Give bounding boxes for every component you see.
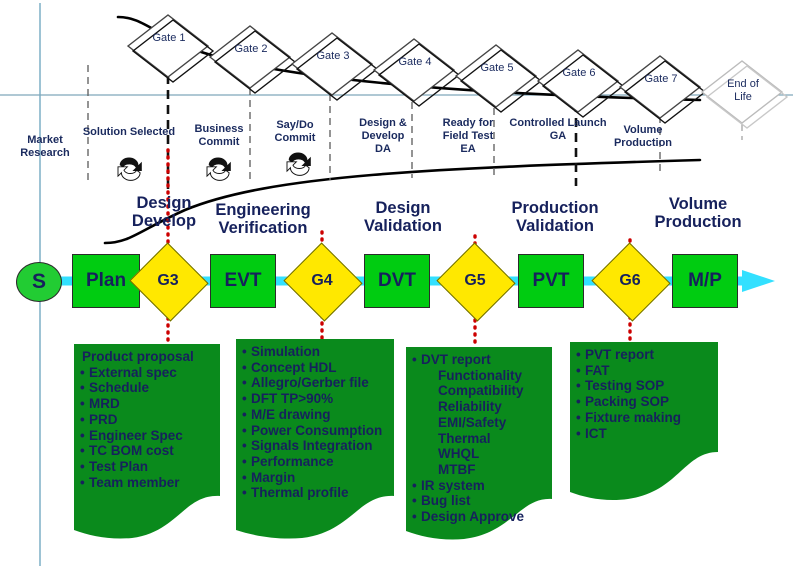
bullet-icon: • (576, 363, 585, 379)
deliverable-item-label: Thermal (438, 431, 491, 446)
deliverable-item: •Allegro/Gerber file (242, 375, 390, 391)
bullet-icon: • (412, 352, 421, 368)
phase-line-1: Say/Do (262, 119, 328, 132)
deliverable-item: Reliability (412, 399, 548, 415)
gate-node-label: G3 (140, 255, 196, 307)
deliverable-item: Functionality (412, 368, 548, 384)
phase-line-2: Field Test (428, 130, 508, 143)
deliverable-item-label: ICT (585, 426, 607, 441)
end-of-life-label: End of Life (708, 78, 778, 103)
process-box-dvt[interactable]: DVT (364, 254, 430, 308)
bullet-icon: • (242, 391, 251, 407)
process-box-evt[interactable]: EVT (210, 254, 276, 308)
deliverable-item-label: Testing SOP (585, 378, 664, 393)
deliverable-list: •DVT reportFunctionalityCompatibilityRel… (406, 347, 552, 525)
deliverable-item-label: EMI/Safety (438, 415, 506, 430)
phase-label-solution-selected: Solution Selected (78, 126, 180, 139)
process-box-pvt[interactable]: PVT (518, 254, 584, 308)
phase-line-2: Commit (262, 132, 328, 145)
stage-title-line-2: Validation (496, 218, 614, 236)
deliverable-item-label: MRD (89, 396, 120, 411)
deliverable-item: •Concept HDL (242, 360, 390, 376)
gate-node-label: G6 (602, 255, 658, 307)
rework-cycle-icon-3 (287, 152, 311, 175)
phase-line-2: Production (602, 137, 684, 150)
bullet-icon: • (242, 485, 251, 501)
deliverable-item: •FAT (576, 363, 714, 379)
deliverable-item: •Thermal profile (242, 485, 390, 501)
deliverable-item: •Power Consumption (242, 423, 390, 439)
deliverable-item-label: Fixture making (585, 410, 681, 425)
gate-node-label: G5 (447, 255, 503, 307)
stage-title-volume-production: Volume Production (640, 196, 756, 232)
deliverable-item: •TC BOM cost (80, 443, 216, 459)
phase-line-3: DA (345, 143, 421, 156)
deliverable-item-label: PVT report (585, 347, 654, 362)
rework-cycle-icon-2 (207, 157, 231, 180)
deliverable-item-label: M/E drawing (251, 407, 331, 422)
gate-node-g3[interactable]: G3 (140, 255, 196, 307)
deliverable-item: •Test Plan (80, 459, 216, 475)
gate-diamond-2 (210, 26, 295, 93)
deliverable-item-label: Engineer Spec (89, 428, 183, 443)
deliverable-item: •Bug list (412, 493, 548, 509)
deliverable-item: •Team member (80, 475, 216, 491)
deliverable-item: •Fixture making (576, 410, 714, 426)
deliverable-item: •Performance (242, 454, 390, 470)
bullet-icon: • (576, 378, 585, 394)
phase-line-1: Controlled Launch (500, 117, 616, 130)
bullet-icon: • (242, 344, 251, 360)
gate-diamond-group (128, 15, 787, 128)
stage-title-line-1: Engineering (198, 202, 328, 220)
deliverable-panel-plan: Product proposal•External spec•Schedule•… (74, 344, 220, 544)
deliverable-item: •PRD (80, 412, 216, 428)
deliverable-item-label: Simulation (251, 344, 320, 359)
deliverable-item-label: Test Plan (89, 459, 148, 474)
deliverable-item: •Signals Integration (242, 438, 390, 454)
deliverable-item: •ICT (576, 426, 714, 442)
phase-label-design-develop-da: Design & Develop DA (345, 117, 421, 157)
bullet-icon: • (412, 493, 421, 509)
deliverable-item-label: Packing SOP (585, 394, 669, 409)
gate-label-3: Gate 3 (305, 50, 361, 62)
gate-label-2: Gate 2 (223, 43, 279, 55)
bullet-icon: • (242, 360, 251, 376)
phase-label-business-commit: Business Commit (182, 123, 256, 149)
rework-cycle-icon-1 (118, 157, 142, 180)
deliverable-item: •IR system (412, 478, 548, 494)
bullet-icon: • (576, 347, 585, 363)
bullet-icon: • (242, 470, 251, 486)
diagram-canvas: Gate 1 Gate 2 Gate 3 Gate 4 Gate 5 Gate … (0, 0, 793, 569)
phase-label-volume-production: Volume Production (602, 124, 684, 150)
phase-line-2: GA (500, 130, 616, 143)
deliverable-item-label: WHQL (438, 446, 479, 461)
gate-label-7: Gate 7 (633, 73, 689, 85)
deliverable-item: •MRD (80, 396, 216, 412)
bullet-icon: • (242, 454, 251, 470)
gate-label-6: Gate 6 (551, 67, 607, 79)
deliverable-item: Compatibility (412, 383, 548, 399)
bullet-icon: • (576, 426, 585, 442)
deliverable-item: •Simulation (242, 344, 390, 360)
gate-node-g4[interactable]: G4 (294, 255, 350, 307)
stage-title-engineering-verification: Engineering Verification (198, 202, 328, 238)
phase-label-say-do-commit: Say/Do Commit (262, 119, 328, 145)
deliverable-item: WHQL (412, 446, 548, 462)
phase-line-1: Business (182, 123, 256, 136)
stage-title-line-2: Production (640, 214, 756, 232)
bullet-icon: • (80, 459, 89, 475)
bullet-icon: • (80, 428, 89, 444)
deliverable-item-label: IR system (421, 478, 485, 493)
deliverable-item-label: Design Approve (421, 509, 524, 524)
bullet-icon: • (80, 380, 89, 396)
gate-diamond-6 (538, 50, 623, 117)
deliverable-item: •DFT TP>90% (242, 391, 390, 407)
deliverable-item: •Engineer Spec (80, 428, 216, 444)
bullet-icon: • (80, 443, 89, 459)
gate-diamond-4 (374, 39, 459, 106)
rework-cycle-icons (118, 152, 311, 180)
bullet-icon: • (242, 407, 251, 423)
deliverable-item: •Margin (242, 470, 390, 486)
deliverable-item-label: TC BOM cost (89, 443, 174, 458)
gate-label-5: Gate 5 (469, 62, 525, 74)
deliverable-panel-pvt: •PVT report•FAT•Testing SOP•Packing SOP•… (570, 342, 718, 507)
gate-node-g6[interactable]: G6 (602, 255, 658, 307)
gate-connector-lines (168, 150, 630, 345)
deliverable-item-label: Compatibility (438, 383, 524, 398)
deliverable-item-label: MTBF (438, 462, 476, 477)
bullet-icon: • (242, 438, 251, 454)
deliverable-item-label: Thermal profile (251, 485, 349, 500)
deliverable-item: Thermal (412, 431, 548, 447)
gate-diamond-7 (620, 56, 705, 123)
deliverable-item-label: Bug list (421, 493, 471, 508)
bullet-icon: • (242, 423, 251, 439)
deliverable-panel-evt: •Simulation•Concept HDL•Allegro/Gerber f… (236, 339, 394, 544)
deliverable-item: MTBF (412, 462, 548, 478)
deliverable-item: •M/E drawing (242, 407, 390, 423)
process-box-mp[interactable]: M/P (672, 254, 738, 308)
gate-label-1: Gate 1 (141, 32, 197, 44)
deliverable-item-label: DFT TP>90% (251, 391, 333, 406)
bullet-icon: • (80, 475, 89, 491)
deliverable-item-label: Signals Integration (251, 438, 373, 453)
deliverable-item: •Packing SOP (576, 394, 714, 410)
deliverable-item-label: Team member (89, 475, 180, 490)
stage-title-production-validation: Production Validation (496, 200, 614, 236)
phase-label-ready-for-field-test-ea: Ready for Field Test EA (428, 117, 508, 157)
gate-label-4: Gate 4 (387, 56, 443, 68)
deliverable-item-label: External spec (89, 365, 177, 380)
deliverable-item-label: Functionality (438, 368, 522, 383)
deliverable-item-label: DVT report (421, 352, 491, 367)
phase-line-2: Develop (345, 130, 421, 143)
end-of-life-line1: End of (708, 78, 778, 91)
deliverable-item-label: Concept HDL (251, 360, 337, 375)
phase-line-1: Volume (602, 124, 684, 137)
stage-title-line-2: Validation (348, 218, 458, 236)
deliverable-item-label: Reliability (438, 399, 502, 414)
bullet-icon: • (576, 394, 585, 410)
phase-line-3: EA (428, 143, 508, 156)
gate-diamond-1 (128, 15, 213, 82)
deliverable-list: Product proposal•External spec•Schedule•… (74, 344, 220, 490)
stage-title-line-1: Volume (640, 196, 756, 214)
phase-line-1: Ready for (428, 117, 508, 130)
deliverable-item: •PVT report (576, 347, 714, 363)
phase-line-1: Market (8, 134, 82, 147)
deliverable-item-label: Margin (251, 470, 295, 485)
deliverable-item-label: Allegro/Gerber file (251, 375, 369, 390)
phase-line-1: Solution Selected (78, 126, 180, 139)
deliverable-list: •PVT report•FAT•Testing SOP•Packing SOP•… (570, 342, 718, 441)
deliverable-item: EMI/Safety (412, 415, 548, 431)
start-node[interactable]: S (16, 262, 62, 302)
deliverable-item-label: Product proposal (82, 349, 194, 364)
bullet-icon: • (412, 509, 421, 525)
deliverable-item-label: FAT (585, 363, 610, 378)
end-of-life-line2: Life (708, 91, 778, 104)
deliverable-item-label: PRD (89, 412, 118, 427)
bullet-icon: • (80, 396, 89, 412)
deliverable-item-label: Performance (251, 454, 334, 469)
bullet-icon: • (80, 365, 89, 381)
phase-line-2: Commit (182, 136, 256, 149)
phase-label-market-research: Market Research (8, 134, 82, 160)
deliverable-item: •Testing SOP (576, 378, 714, 394)
phase-line-2: Research (8, 147, 82, 160)
deliverable-item-label: Schedule (89, 380, 149, 395)
phase-label-controlled-launch-ga: Controlled Launch GA (500, 117, 616, 143)
deliverable-item: •External spec (80, 365, 216, 381)
bullet-icon: • (576, 410, 585, 426)
deliverable-item-label: Power Consumption (251, 423, 382, 438)
deliverable-list: •Simulation•Concept HDL•Allegro/Gerber f… (236, 339, 394, 501)
deliverable-item: •DVT report (412, 352, 548, 368)
stage-title-line-2: Verification (198, 220, 328, 238)
gate-diamond-3 (292, 33, 377, 100)
stage-title-line-1: Production (496, 200, 614, 218)
deliverable-panel-dvt: •DVT reportFunctionalityCompatibilityRel… (406, 347, 552, 543)
gate-node-label: G4 (294, 255, 350, 307)
deliverable-item: •Schedule (80, 380, 216, 396)
stage-title-line-1: Design (348, 200, 458, 218)
bullet-icon: • (80, 412, 89, 428)
bullet-icon: • (242, 375, 251, 391)
stage-title-design-validation: Design Validation (348, 200, 458, 236)
deliverable-item: Product proposal (80, 349, 216, 365)
deliverable-item: •Design Approve (412, 509, 548, 525)
bullet-icon: • (412, 478, 421, 494)
gate-diamond-5 (456, 45, 541, 112)
phase-line-1: Design & (345, 117, 421, 130)
gate-node-g5[interactable]: G5 (447, 255, 503, 307)
